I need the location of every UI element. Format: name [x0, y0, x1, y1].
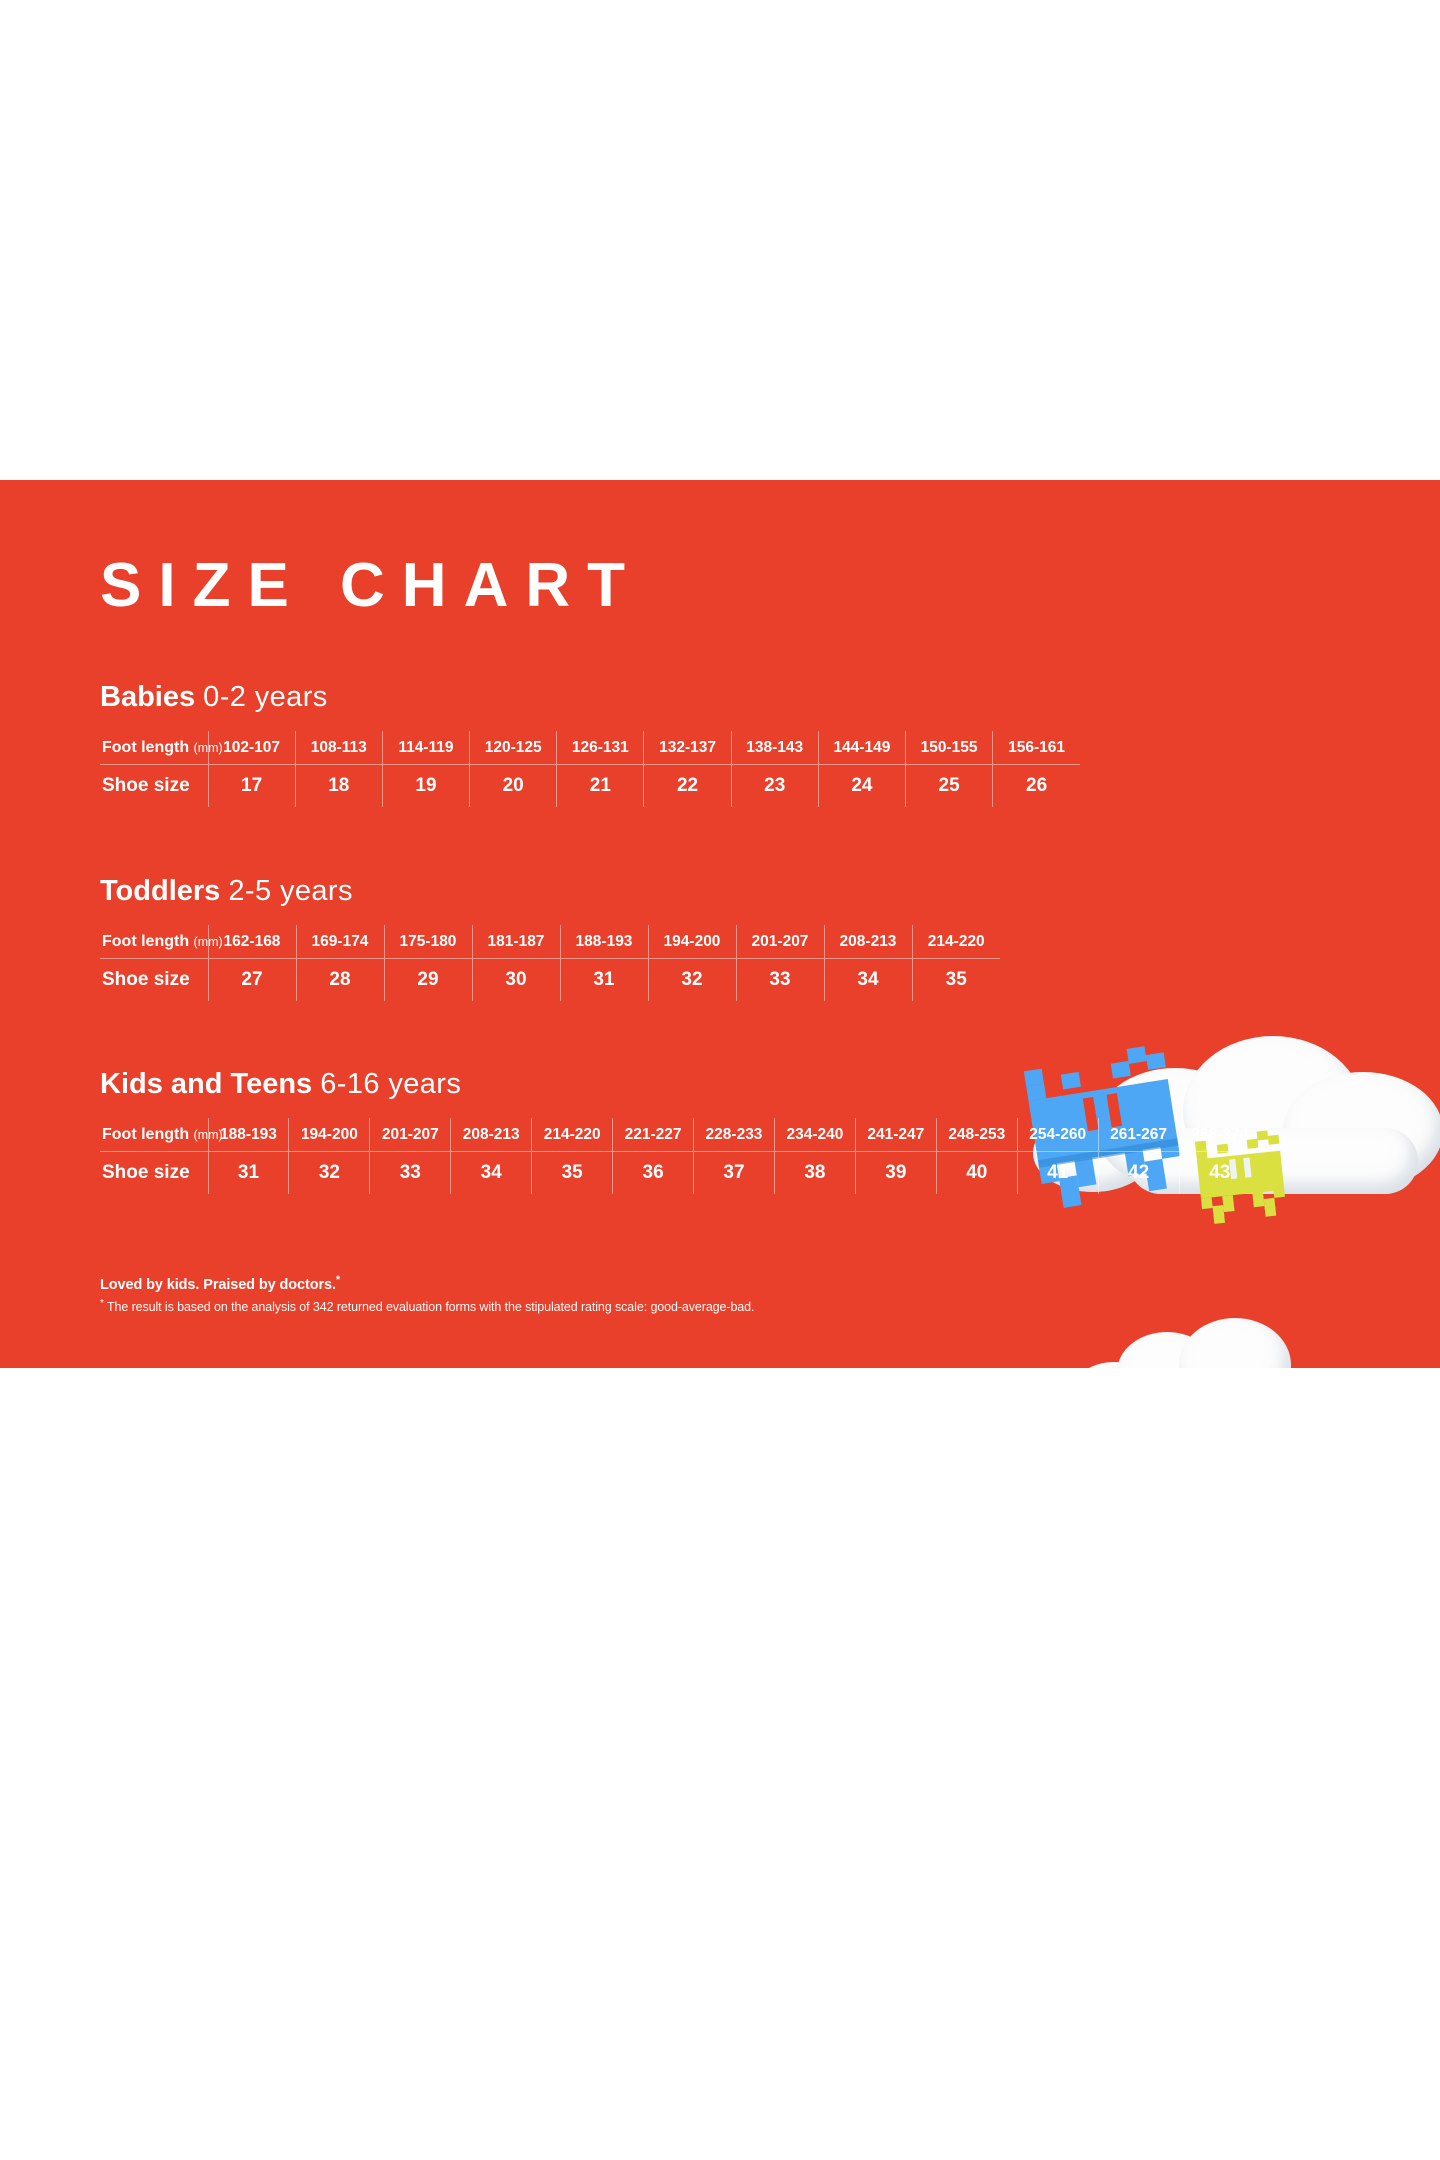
cell-shoe-size: 38	[774, 1152, 855, 1195]
table-row-shoe-size: Shoe size 27 28 29 30 31 32 33 34 35	[100, 959, 1000, 1002]
cell-shoe-size: 37	[694, 1152, 775, 1195]
section-toddlers: Toddlers 2-5 years Foot length (mm) 162-…	[100, 877, 1000, 1001]
cell-foot-length: 188-193	[208, 1118, 289, 1152]
cell-shoe-size: 40	[936, 1152, 1017, 1195]
section-kids-and-teens: Kids and Teens 6-16 years Foot length (m…	[100, 1070, 1260, 1194]
cell-shoe-size: 29	[384, 959, 472, 1002]
row-label-shoe-size: Shoe size	[100, 765, 208, 808]
cell-shoe-size: 34	[451, 1152, 532, 1195]
cell-foot-length: 214-220	[532, 1118, 613, 1152]
row-label-foot-length: Foot length (mm)	[100, 1118, 208, 1152]
size-chart-panel: SIZE CHART Babies 0-2 years Foot length …	[0, 480, 1440, 1368]
cell-foot-length: 114-119	[382, 731, 469, 765]
cell-foot-length: 169-174	[296, 925, 384, 959]
cell-shoe-size: 19	[382, 765, 469, 808]
cell-foot-length: 194-200	[648, 925, 736, 959]
row-label-unit: (mm)	[194, 741, 223, 755]
size-table-babies: Foot length (mm) 102-107 108-113 114-119…	[100, 731, 1080, 807]
row-label-unit: (mm)	[194, 1128, 223, 1142]
cell-foot-length: 234-240	[774, 1118, 855, 1152]
cell-foot-length: 144-149	[818, 731, 905, 765]
cell-shoe-size: 35	[912, 959, 1000, 1002]
cell-shoe-size: 31	[560, 959, 648, 1002]
cell-foot-length: 208-213	[824, 925, 912, 959]
row-label-shoe-size: Shoe size	[100, 959, 208, 1002]
cell-shoe-size: 27	[208, 959, 296, 1002]
cell-shoe-size: 33	[736, 959, 824, 1002]
table-row-shoe-size: Shoe size 17 18 19 20 21 22 23 24 25 26	[100, 765, 1080, 808]
cell-foot-length: 268-274	[1179, 1118, 1260, 1152]
cell-shoe-size: 30	[472, 959, 560, 1002]
cell-shoe-size: 36	[613, 1152, 694, 1195]
cell-foot-length: 156-161	[993, 731, 1080, 765]
cell-shoe-size: 25	[906, 765, 993, 808]
cell-foot-length: 181-187	[472, 925, 560, 959]
cell-shoe-size: 32	[289, 1152, 370, 1195]
cell-foot-length: 241-247	[855, 1118, 936, 1152]
cell-shoe-size: 34	[824, 959, 912, 1002]
cell-foot-length: 201-207	[370, 1118, 451, 1152]
cell-shoe-size: 28	[296, 959, 384, 1002]
cell-foot-length: 108-113	[295, 731, 382, 765]
cell-shoe-size: 41	[1017, 1152, 1098, 1195]
cell-shoe-size: 22	[644, 765, 731, 808]
cell-foot-length: 221-227	[613, 1118, 694, 1152]
section-age-range: 0-2 years	[203, 681, 328, 713]
cell-foot-length: 228-233	[694, 1118, 775, 1152]
row-label-shoe-size: Shoe size	[100, 1152, 208, 1195]
cell-foot-length: 254-260	[1017, 1118, 1098, 1152]
cell-shoe-size: 33	[370, 1152, 451, 1195]
table-row-foot-length: Foot length (mm) 162-168 169-174 175-180…	[100, 925, 1000, 959]
row-label-text: Foot length	[102, 1126, 189, 1143]
cell-shoe-size: 32	[648, 959, 736, 1002]
cell-shoe-size: 18	[295, 765, 382, 808]
page-title: SIZE CHART	[100, 555, 642, 617]
cell-shoe-size: 39	[855, 1152, 936, 1195]
section-heading-toddlers: Toddlers 2-5 years	[100, 877, 1000, 906]
table-row-foot-length: Foot length (mm) 188-193 194-200 201-207…	[100, 1118, 1260, 1152]
cell-shoe-size: 31	[208, 1152, 289, 1195]
cell-foot-length: 150-155	[906, 731, 993, 765]
section-babies: Babies 0-2 years Foot length (mm) 102-10…	[100, 683, 1080, 807]
footer: Loved by kids. Praised by doctors.* * Th…	[100, 1274, 1200, 1314]
footer-note-marker: *	[100, 1298, 104, 1309]
size-table-kids-and-teens: Foot length (mm) 188-193 194-200 201-207…	[100, 1118, 1260, 1194]
cell-shoe-size: 42	[1098, 1152, 1179, 1195]
footer-claim: Loved by kids. Praised by doctors.*	[100, 1274, 1200, 1293]
section-heading-babies: Babies 0-2 years	[100, 683, 1080, 712]
cell-foot-length: 248-253	[936, 1118, 1017, 1152]
footer-claim-marker: *	[336, 1274, 340, 1286]
cell-foot-length: 126-131	[557, 731, 644, 765]
cell-foot-length: 132-137	[644, 731, 731, 765]
footer-note-text: The result is based on the analysis of 3…	[107, 1300, 754, 1314]
cell-foot-length: 261-267	[1098, 1118, 1179, 1152]
cell-foot-length: 208-213	[451, 1118, 532, 1152]
cell-shoe-size: 20	[470, 765, 557, 808]
section-group-name: Kids and Teens	[100, 1068, 312, 1100]
cell-shoe-size: 24	[818, 765, 905, 808]
cell-shoe-size: 35	[532, 1152, 613, 1195]
section-heading-kids-and-teens: Kids and Teens 6-16 years	[100, 1070, 1260, 1099]
row-label-text: Foot length	[102, 933, 189, 950]
row-label-text: Foot length	[102, 739, 189, 756]
section-group-name: Babies	[100, 681, 195, 713]
section-group-name: Toddlers	[100, 875, 220, 907]
section-age-range: 6-16 years	[320, 1068, 461, 1100]
size-table-toddlers: Foot length (mm) 162-168 169-174 175-180…	[100, 925, 1000, 1001]
table-row-foot-length: Foot length (mm) 102-107 108-113 114-119…	[100, 731, 1080, 765]
cell-foot-length: 194-200	[289, 1118, 370, 1152]
cell-shoe-size: 23	[731, 765, 818, 808]
cell-foot-length: 138-143	[731, 731, 818, 765]
footer-claim-text: Loved by kids. Praised by doctors.	[100, 1277, 336, 1293]
cell-shoe-size: 43	[1179, 1152, 1260, 1195]
cell-shoe-size: 17	[208, 765, 295, 808]
section-age-range: 2-5 years	[228, 875, 353, 907]
row-label-foot-length: Foot length (mm)	[100, 925, 208, 959]
cell-shoe-size: 21	[557, 765, 644, 808]
row-label-unit: (mm)	[194, 935, 223, 949]
cell-foot-length: 214-220	[912, 925, 1000, 959]
row-label-foot-length: Foot length (mm)	[100, 731, 208, 765]
cell-foot-length: 188-193	[560, 925, 648, 959]
cell-shoe-size: 26	[993, 765, 1080, 808]
table-row-shoe-size: Shoe size 31 32 33 34 35 36 37 38 39 40 …	[100, 1152, 1260, 1195]
cell-foot-length: 201-207	[736, 925, 824, 959]
footer-note: * The result is based on the analysis of…	[100, 1298, 1200, 1314]
cell-foot-length: 120-125	[470, 731, 557, 765]
cell-foot-length: 175-180	[384, 925, 472, 959]
